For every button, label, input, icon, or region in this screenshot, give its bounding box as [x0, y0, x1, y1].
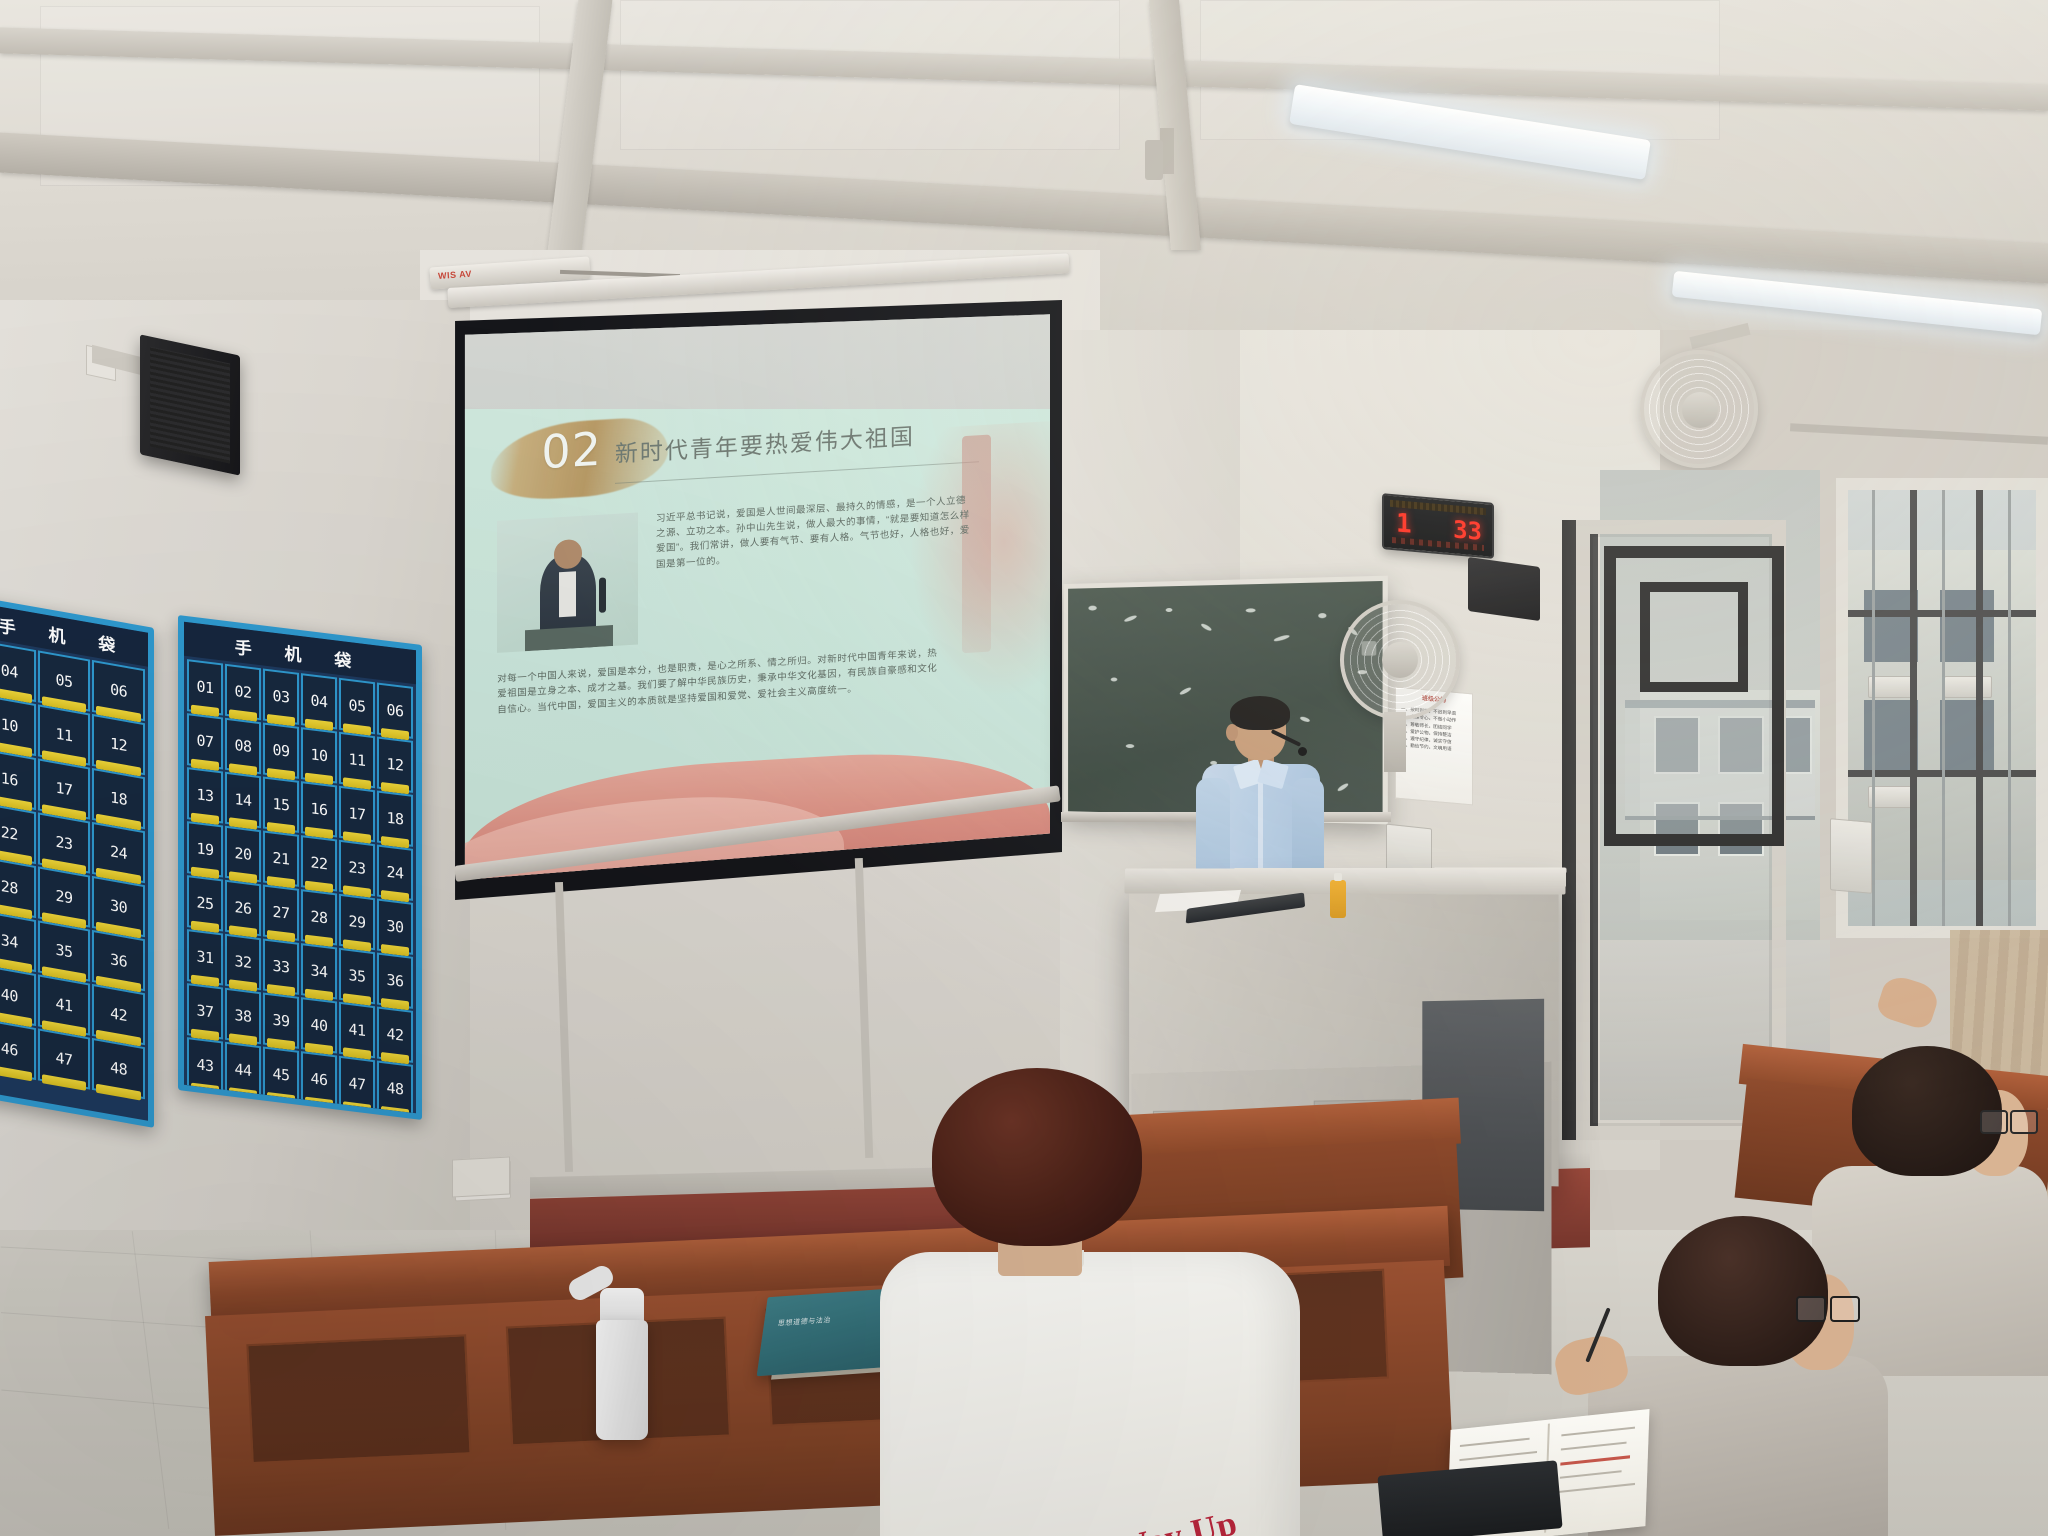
phone-pocket[interactable]: 18 [377, 790, 413, 846]
phone-pocket-number: 29 [55, 886, 72, 907]
phone-pocket-number: 22 [1, 823, 18, 844]
phone-pocket[interactable]: 12 [377, 736, 413, 792]
photo-podium [525, 625, 612, 651]
phone-pocket[interactable]: 46 [0, 1019, 36, 1080]
phone-pocket-number: 05 [348, 696, 365, 716]
phone-pocket-number: 34 [1, 931, 18, 952]
phone-pocket[interactable]: 18 [92, 768, 145, 829]
phone-pocket[interactable]: 15 [263, 776, 299, 832]
phone-pocket-number: 37 [196, 1001, 213, 1021]
phone-pocket-number: 46 [1, 1039, 18, 1060]
phone-pocket[interactable]: 01 [187, 659, 223, 715]
phone-pocket[interactable]: 12 [92, 714, 145, 775]
phone-pocket-number: 07 [196, 731, 213, 751]
phone-pocket-number: 03 [272, 687, 289, 707]
eyeglasses [1980, 1110, 2038, 1132]
curtain-rod [1790, 423, 2048, 444]
phone-pocket[interactable]: 10 [0, 695, 36, 756]
phone-pocket-number: 20 [234, 844, 251, 864]
phone-pocket-number: 09 [272, 741, 289, 761]
phone-pocket[interactable]: 05 [38, 650, 91, 711]
phone-pocket-number: 05 [55, 670, 72, 691]
electrical-panel[interactable] [1830, 818, 1872, 894]
phone-pocket[interactable]: 43 [187, 1037, 223, 1093]
phone-pocket[interactable]: 13 [187, 767, 223, 823]
fan-hub [1382, 642, 1418, 678]
phone-pocket-number: 06 [386, 701, 403, 721]
phone-pocket[interactable]: 09 [263, 722, 299, 778]
phone-pocket[interactable]: 47 [38, 1028, 91, 1089]
phone-pocket-number: 04 [310, 691, 327, 711]
phone-pocket[interactable]: 38 [225, 988, 261, 1044]
student-hand [1875, 972, 1942, 1031]
phone-pocket[interactable]: 08 [225, 718, 261, 774]
phone-pocket-number: 42 [386, 1025, 403, 1045]
phone-pocket-number: 27 [272, 903, 289, 923]
phone-pocket-number: 17 [55, 778, 72, 799]
phone-pocket[interactable]: 40 [301, 997, 337, 1053]
phone-pocket[interactable]: 35 [38, 920, 91, 981]
water-bottle[interactable]: TriCook [596, 1320, 648, 1440]
phone-pocket-number: 23 [348, 858, 365, 878]
phone-pocket[interactable]: 33 [263, 938, 299, 994]
slide-paragraph-2: 对每一个中国人来说，爱国是本分，也是职责，是心之所系、情之所归。对新时代中国青年… [497, 645, 944, 718]
shirt-text: All The Way Up [990, 1503, 1243, 1536]
ceiling-speaker [1468, 557, 1540, 621]
wall-speaker [140, 334, 240, 475]
phone-pocket-number: 36 [110, 950, 127, 971]
bottle-cap [600, 1288, 644, 1324]
phone-pocket[interactable]: 30 [377, 898, 413, 954]
phone-pocket[interactable]: 02 [225, 664, 261, 720]
phone-pocket[interactable]: 17 [339, 786, 375, 842]
phone-pocket-number: 30 [110, 896, 127, 917]
projection-screen: 02 新时代青年要热爱伟大祖国 习近平总书记说，爱国是人世间最深层、最持久的情感… [462, 312, 1050, 882]
phone-pocket[interactable]: 06 [92, 660, 145, 721]
door-window-mullion [1640, 582, 1748, 692]
phone-pocket-number: 45 [272, 1065, 289, 1085]
phone-pocket-number: 41 [55, 994, 72, 1015]
speaker-grille [150, 346, 230, 463]
phone-pocket[interactable]: 34 [301, 943, 337, 999]
phone-pocket[interactable]: 37 [187, 983, 223, 1039]
phone-pocket-number: 28 [310, 907, 327, 927]
phone-pocket-number: 42 [110, 1004, 127, 1025]
phone-pocket-number: 26 [234, 898, 251, 918]
phone-pocket[interactable]: 44 [225, 1042, 261, 1098]
phone-pocket[interactable]: 41 [38, 974, 91, 1035]
wall-fan[interactable] [1340, 600, 1460, 720]
phone-pocket-number: 46 [310, 1069, 327, 1089]
phone-pocket[interactable]: 48 [377, 1060, 413, 1116]
phone-pocket[interactable]: 36 [377, 952, 413, 1008]
phone-pocket-number: 23 [55, 832, 72, 853]
phone-pocket-number: 10 [310, 745, 327, 765]
slide-photo [497, 512, 638, 653]
slide-title: 新时代青年要热爱伟大祖国 [615, 417, 915, 469]
slide-section-number: 02 [541, 422, 602, 480]
phone-pocket-number: 38 [234, 1006, 251, 1026]
phone-pocket-number: 34 [310, 961, 327, 981]
phone-pocket-number: 13 [196, 785, 213, 805]
phone-pocket[interactable]: 22 [301, 835, 337, 891]
phone-pocket-number: 43 [196, 1055, 213, 1075]
phone-pocket[interactable]: 20 [225, 826, 261, 882]
student-hair [932, 1068, 1142, 1246]
phone-pocket-number: 15 [272, 795, 289, 815]
phone-pocket[interactable]: 45 [263, 1046, 299, 1102]
phone-pocket-number: 28 [1, 877, 18, 898]
phone-pocket-number: 40 [310, 1015, 327, 1035]
classroom-scene: WIS AV 02 新时代青年要热爱伟大祖国 习近平总书 [0, 0, 2048, 1536]
clock-minutes: 33 [1453, 515, 1482, 546]
phone-pocket[interactable]: 11 [38, 704, 91, 765]
phone-pocket[interactable]: 25 [187, 875, 223, 931]
phone-pocket[interactable]: 46 [301, 1051, 337, 1107]
phone-pocket[interactable]: 27 [263, 884, 299, 940]
phone-pocket[interactable]: 42 [92, 984, 145, 1045]
podium-bottle [1330, 880, 1346, 918]
phone-pocket-number: 47 [55, 1048, 72, 1069]
phone-pocket[interactable]: 28 [301, 889, 337, 945]
phone-pocket-chart-right[interactable]: 手 机 袋 0102030405060708091011121314151617… [178, 615, 422, 1120]
phone-pocket[interactable]: 29 [339, 894, 375, 950]
phone-pocket-number: 04 [1, 661, 18, 682]
phone-pocket-number: 40 [1, 985, 18, 1006]
phone-pocket[interactable]: 41 [339, 1002, 375, 1058]
phone-pocket-number: 12 [386, 755, 403, 775]
phone-pocket-number: 33 [272, 957, 289, 977]
phone-pocket[interactable]: 31 [187, 929, 223, 985]
headset-microphone [1298, 747, 1307, 756]
phone-pocket[interactable]: 05 [339, 678, 375, 734]
phone-pocket[interactable]: 19 [187, 821, 223, 877]
phone-pocket-number: 35 [55, 940, 72, 961]
phone-pocket[interactable]: 06 [377, 682, 413, 738]
phone-pocket[interactable]: 48 [92, 1038, 145, 1099]
phone-pocket[interactable]: 34 [0, 911, 36, 972]
phone-pocket-grid: 0405061011121617182223242829303435364041… [0, 637, 148, 1103]
phone-pocket-number: 01 [196, 677, 213, 697]
phone-pocket-number: 02 [234, 682, 251, 702]
phone-pocket-number: 24 [386, 863, 403, 883]
phone-pocket[interactable]: 22 [0, 803, 36, 864]
phone-pocket-number: 48 [386, 1079, 403, 1099]
phone-pocket[interactable]: 21 [263, 830, 299, 886]
phone-pocket[interactable]: 14 [225, 772, 261, 828]
photo-shirt [559, 571, 576, 617]
textbook-title: 思想道德与法治 [777, 1315, 831, 1329]
eyeglasses [1796, 1296, 1860, 1320]
student-hair [1658, 1216, 1828, 1366]
phone-pocket-number: 39 [272, 1011, 289, 1031]
fan-hub [1682, 392, 1718, 428]
phone-pocket[interactable]: 07 [187, 713, 223, 769]
teacher-ear [1226, 724, 1238, 741]
photo-microphone [599, 577, 606, 612]
phone-pocket-number: 18 [110, 788, 127, 809]
phone-pocket-number: 31 [196, 947, 213, 967]
phone-pocket-number: 48 [110, 1058, 127, 1079]
clock-hours: 1 [1396, 508, 1412, 539]
ceiling-fan[interactable] [1640, 350, 1758, 468]
phone-pocket-number: 11 [348, 750, 365, 770]
phone-pocket-number: 44 [234, 1060, 251, 1080]
phone-pocket[interactable]: 26 [225, 880, 261, 936]
phone-pocket[interactable]: 17 [38, 758, 91, 819]
phone-pocket-number: 12 [110, 734, 127, 755]
digital-wall-clock: 1 33 [1382, 493, 1494, 559]
phone-pocket[interactable]: 11 [339, 732, 375, 788]
phone-pocket[interactable]: 35 [339, 948, 375, 1004]
phone-pocket-number: 17 [348, 804, 365, 824]
phone-pocket-number: 22 [310, 853, 327, 873]
phone-pocket[interactable]: 23 [339, 840, 375, 896]
phone-pocket-number: 16 [310, 799, 327, 819]
shirt-graphic: All The Way Up [990, 1517, 1255, 1536]
phone-pocket-number: 10 [1, 715, 18, 736]
phone-pocket-chart-left[interactable]: 手 机 袋 0405061011121617182223242829303435… [0, 596, 154, 1128]
phone-pocket-number: 30 [386, 917, 403, 937]
phone-pocket[interactable]: 32 [225, 934, 261, 990]
phone-pocket[interactable]: 04 [0, 641, 36, 702]
phone-pocket[interactable]: 40 [0, 965, 36, 1026]
phone-pocket[interactable]: 29 [38, 866, 91, 927]
phone-pocket[interactable]: 30 [92, 876, 145, 937]
projector-mount [1145, 140, 1163, 180]
wall-panel [452, 1156, 510, 1197]
phone-pocket[interactable]: 47 [339, 1056, 375, 1112]
student-front: All The Way Up [880, 1068, 1310, 1536]
phone-pocket-number: 16 [1, 769, 18, 790]
phone-pocket-number: 06 [110, 680, 127, 701]
phone-pocket[interactable]: 23 [38, 812, 91, 873]
phone-pocket-number: 11 [55, 724, 72, 745]
phone-pocket[interactable]: 28 [0, 857, 36, 918]
phone-pocket-number: 35 [348, 966, 365, 986]
phone-pocket[interactable]: 36 [92, 930, 145, 991]
phone-pocket[interactable]: 16 [301, 781, 337, 837]
fan-neck [1384, 712, 1406, 772]
phone-pocket[interactable]: 24 [92, 822, 145, 883]
phone-pocket[interactable]: 03 [263, 668, 299, 724]
phone-pocket-number: 29 [348, 912, 365, 932]
phone-pocket-number: 18 [386, 809, 403, 829]
teacher-hair [1230, 696, 1290, 730]
projector-brand-label: WIS AV [438, 269, 473, 281]
phone-pocket[interactable]: 42 [377, 1006, 413, 1062]
phone-pocket-number: 08 [234, 736, 251, 756]
phone-pocket-number: 25 [196, 893, 213, 913]
phone-pocket-number: 47 [348, 1074, 365, 1094]
phone-pocket[interactable]: 24 [377, 844, 413, 900]
phone-pocket[interactable]: 04 [301, 673, 337, 729]
phone-pocket-number: 19 [196, 839, 213, 859]
phone-pocket[interactable]: 10 [301, 727, 337, 783]
phone-pocket-number: 32 [234, 952, 251, 972]
phone-pocket-grid: 0102030405060708091011121314151617181920… [184, 656, 416, 1120]
phone-pocket[interactable]: 39 [263, 992, 299, 1048]
phone-pocket-number: 21 [272, 849, 289, 869]
student-shirt: All The Way Up [880, 1252, 1300, 1536]
phone-pocket-number: 41 [348, 1020, 365, 1040]
phone-pocket-number: 24 [110, 842, 127, 863]
phone-pocket-number: 36 [386, 971, 403, 991]
phone-pocket-number: 14 [234, 790, 251, 810]
phone-pocket[interactable]: 16 [0, 749, 36, 810]
